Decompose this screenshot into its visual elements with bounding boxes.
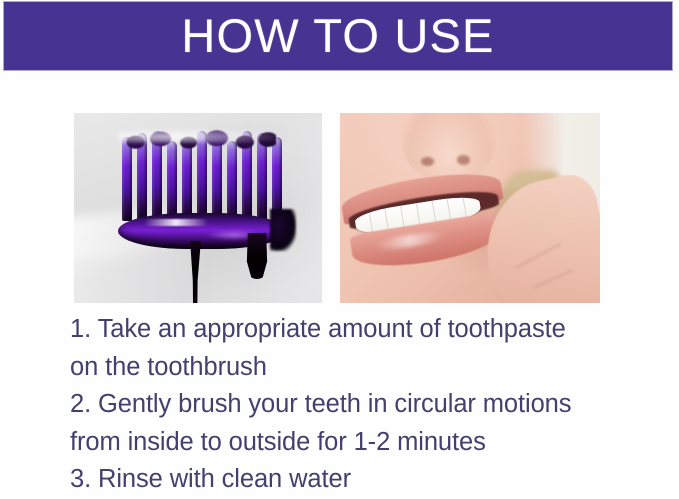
page-title: HOW TO USE: [181, 12, 494, 59]
how-to-use-banner: HOW TO USE: [4, 2, 672, 70]
instruction-line: 3. Rinse with clean water: [70, 461, 660, 499]
toothbrush-photo: [74, 113, 322, 303]
instruction-line: 2. Gently brush your teeth in circular m…: [70, 386, 660, 424]
smile-photo: [340, 113, 600, 303]
bristle: [167, 141, 177, 221]
bristle: [227, 141, 237, 221]
toothbrush-head-highlight: [144, 219, 208, 226]
bristle-highlight: [118, 127, 286, 143]
instructions-list: 1. Take an appropriate amount of toothpa…: [70, 311, 660, 499]
photo-row: [0, 113, 679, 303]
paste-edge-shadow: [270, 209, 296, 251]
instruction-line: 1. Take an appropriate amount of toothpa…: [70, 311, 660, 349]
toothbrush-graphic: [118, 129, 286, 269]
instruction-line: on the toothbrush: [70, 349, 660, 387]
nostril-left: [421, 157, 434, 167]
instruction-line: from inside to outside for 1-2 minutes: [70, 424, 660, 462]
